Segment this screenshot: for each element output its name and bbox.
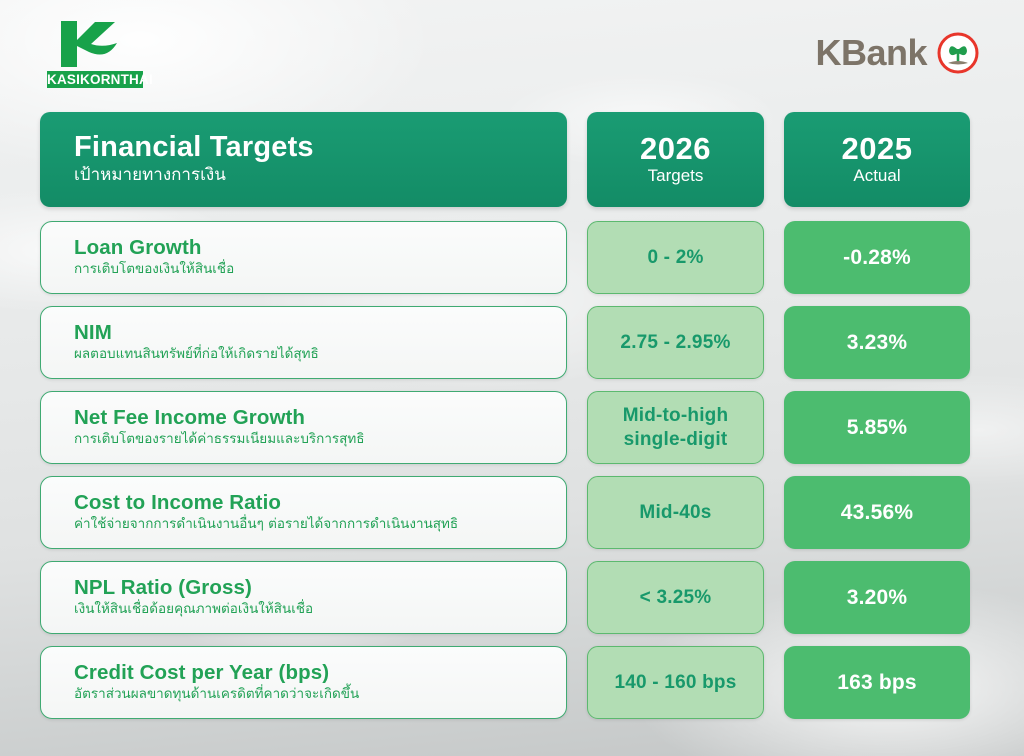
actual-value: 5.85% bbox=[847, 415, 908, 440]
metric-cell: Cost to Income Ratio ค่าใช้จ่ายจากการดำเ… bbox=[40, 476, 567, 549]
header-title-cell: Financial Targets เป้าหมายทางการเงิน bbox=[40, 112, 567, 207]
actual-value: -0.28% bbox=[843, 245, 911, 270]
table-row: Cost to Income Ratio ค่าใช้จ่ายจากการดำเ… bbox=[40, 476, 992, 549]
metric-name-th: เงินให้สินเชื่อด้อยคุณภาพต่อเงินให้สินเช… bbox=[74, 600, 566, 620]
header-year-2025: 2025 bbox=[842, 133, 913, 166]
table-row: Net Fee Income Growth การเติบโตของรายได้… bbox=[40, 391, 992, 464]
table-row: Credit Cost per Year (bps) อัตราส่วนผลขา… bbox=[40, 646, 992, 719]
kasikornthai-logo: KASIKORNTHAI bbox=[47, 18, 143, 88]
kbank-logo: KBank bbox=[815, 32, 979, 74]
target-value: 2.75 - 2.95% bbox=[620, 331, 730, 354]
table-row: NPL Ratio (Gross) เงินให้สินเชื่อด้อยคุณ… bbox=[40, 561, 992, 634]
metric-cell: Loan Growth การเติบโตของเงินให้สินเชื่อ bbox=[40, 221, 567, 294]
target-value: 0 - 2% bbox=[647, 246, 703, 269]
actual-value: 43.56% bbox=[841, 500, 913, 525]
actual-cell: 163 bps bbox=[784, 646, 970, 719]
metric-name-en: Credit Cost per Year (bps) bbox=[74, 661, 566, 684]
target-value: Mid-40s bbox=[639, 501, 711, 524]
metric-name-en: Loan Growth bbox=[74, 236, 566, 259]
target-cell: Mid-to-high single-digit bbox=[587, 391, 764, 464]
page-title: Financial Targets bbox=[74, 132, 567, 162]
page-title-thai: เป้าหมายทางการเงิน bbox=[74, 164, 567, 187]
target-cell: < 3.25% bbox=[587, 561, 764, 634]
target-value: 140 - 160 bps bbox=[615, 671, 737, 694]
metric-cell: Credit Cost per Year (bps) อัตราส่วนผลขา… bbox=[40, 646, 567, 719]
metric-name-en: Net Fee Income Growth bbox=[74, 406, 566, 429]
actual-cell: 3.20% bbox=[784, 561, 970, 634]
header-column-targets: 2026 Targets bbox=[587, 112, 764, 207]
actual-value: 3.23% bbox=[847, 330, 908, 355]
metric-name-en: NPL Ratio (Gross) bbox=[74, 576, 566, 599]
target-cell: Mid-40s bbox=[587, 476, 764, 549]
table-row: Loan Growth การเติบโตของเงินให้สินเชื่อ … bbox=[40, 221, 992, 294]
metric-name-th: ค่าใช้จ่ายจากการดำเนินงานอื่นๆ ต่อรายได้… bbox=[74, 515, 566, 535]
target-value: Mid-to-high single-digit bbox=[623, 404, 729, 450]
target-cell: 0 - 2% bbox=[587, 221, 764, 294]
actual-value: 163 bps bbox=[837, 670, 917, 695]
target-cell: 2.75 - 2.95% bbox=[587, 306, 764, 379]
metric-name-th: การเติบโตของรายได้ค่าธรรมเนียมและบริการส… bbox=[74, 430, 566, 450]
header-sub-actual: Actual bbox=[853, 166, 900, 186]
actual-value: 3.20% bbox=[847, 585, 908, 610]
metric-cell: NPL Ratio (Gross) เงินให้สินเชื่อด้อยคุณ… bbox=[40, 561, 567, 634]
actual-cell: -0.28% bbox=[784, 221, 970, 294]
actual-cell: 3.23% bbox=[784, 306, 970, 379]
header-sub-targets: Targets bbox=[648, 166, 704, 186]
metric-name-th: ผลตอบแทนสินทรัพย์ที่ก่อให้เกิดรายได้สุทธ… bbox=[74, 345, 566, 365]
metric-name-th: อัตราส่วนผลขาดทุนด้านเครดิตที่คาดว่าจะเก… bbox=[74, 685, 566, 705]
kbank-wordmark: KBank bbox=[815, 32, 927, 74]
actual-cell: 5.85% bbox=[784, 391, 970, 464]
metric-name-th: การเติบโตของเงินให้สินเชื่อ bbox=[74, 260, 566, 280]
header-column-actual: 2025 Actual bbox=[784, 112, 970, 207]
actual-cell: 43.56% bbox=[784, 476, 970, 549]
metric-name-en: Cost to Income Ratio bbox=[74, 491, 566, 514]
metric-cell: Net Fee Income Growth การเติบโตของรายได้… bbox=[40, 391, 567, 464]
metric-cell: NIM ผลตอบแทนสินทรัพย์ที่ก่อให้เกิดรายได้… bbox=[40, 306, 567, 379]
target-value: < 3.25% bbox=[640, 586, 712, 609]
table-row: NIM ผลตอบแทนสินทรัพย์ที่ก่อให้เกิดรายได้… bbox=[40, 306, 992, 379]
header-year-2026: 2026 bbox=[640, 133, 711, 166]
slide-root: KASIKORNTHAI KBank Financial Targets เป้… bbox=[0, 0, 1024, 756]
kasikorn-k-icon bbox=[55, 18, 119, 70]
financial-targets-table: Financial Targets เป้าหมายทางการเงิน 202… bbox=[40, 112, 992, 719]
metric-name-en: NIM bbox=[74, 321, 566, 344]
kbank-sprout-seal-icon bbox=[937, 32, 979, 74]
table-header-row: Financial Targets เป้าหมายทางการเงิน 202… bbox=[40, 112, 992, 207]
target-cell: 140 - 160 bps bbox=[587, 646, 764, 719]
kasikornthai-wordmark: KASIKORNTHAI bbox=[47, 71, 143, 88]
